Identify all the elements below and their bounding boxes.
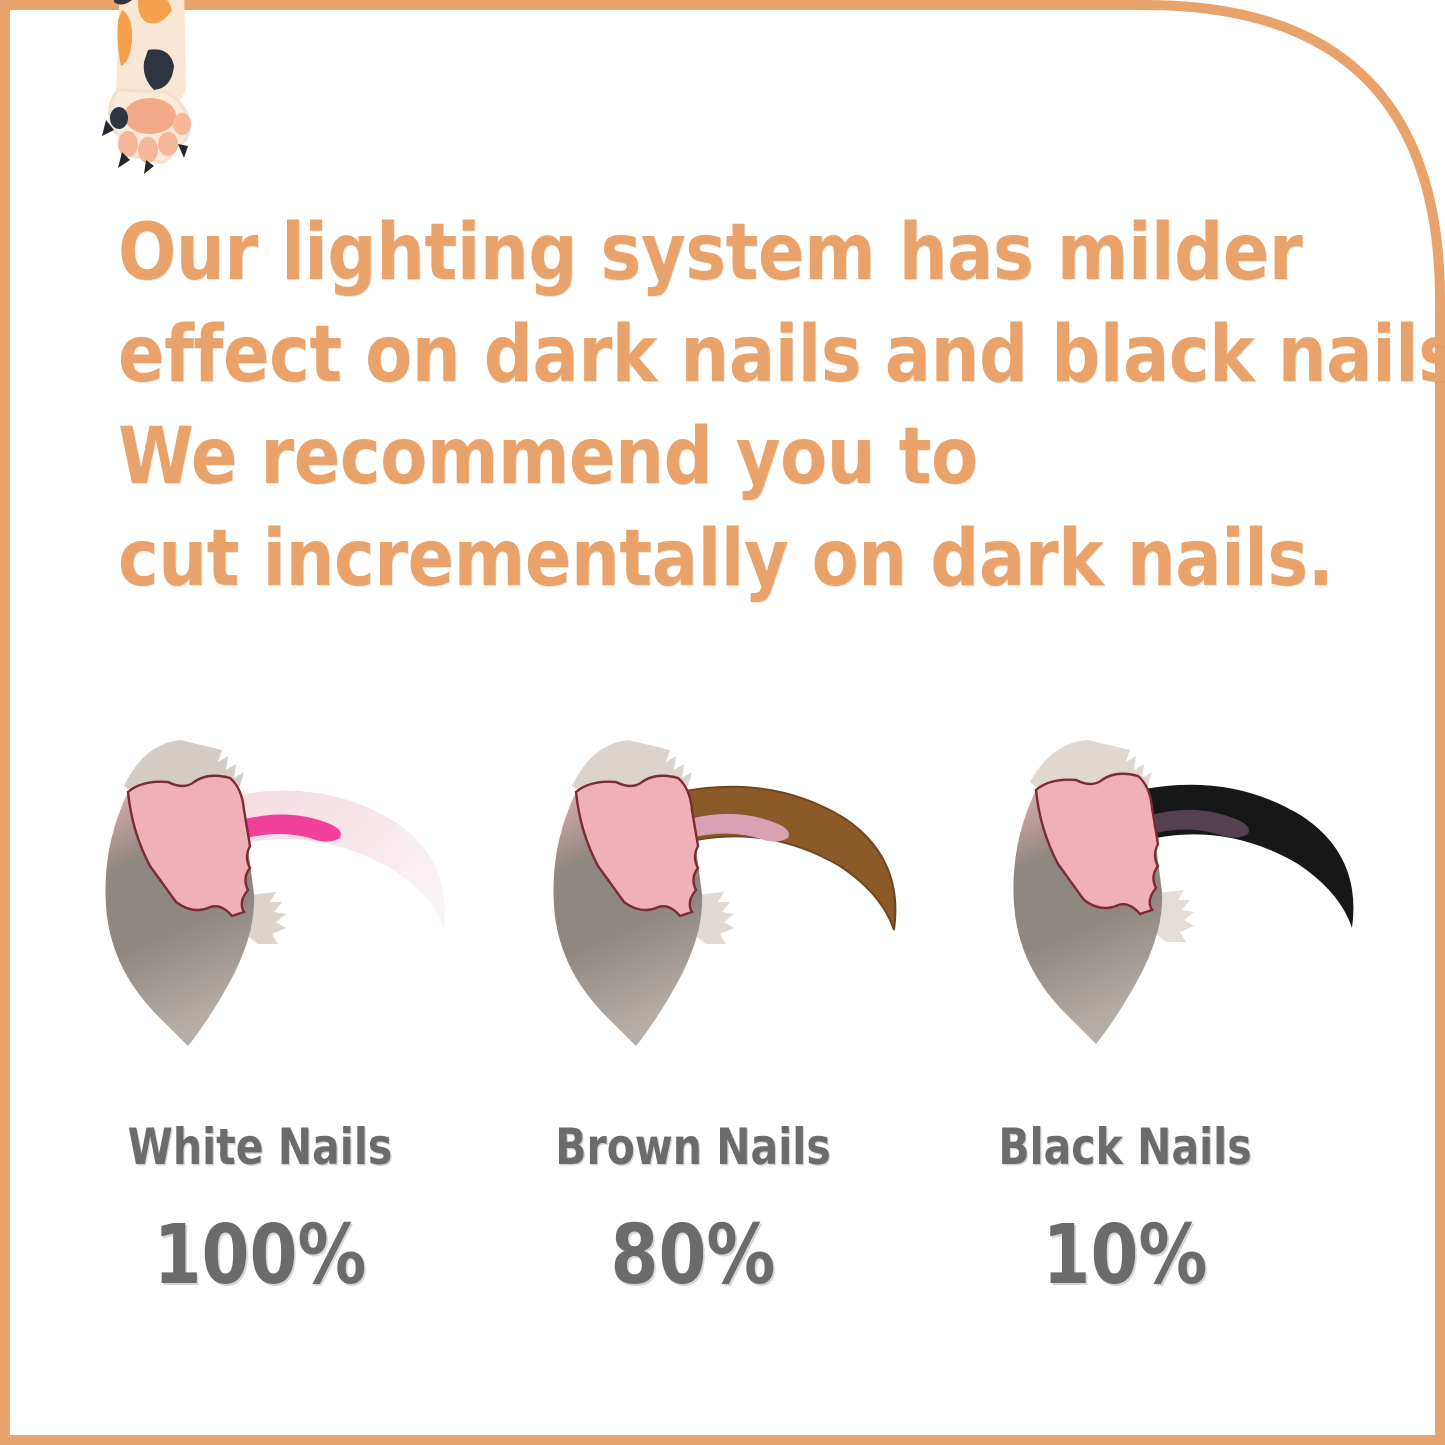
nail-percent-white: 100% <box>79 1210 440 1302</box>
nail-label-black: Black Nails <box>949 1118 1302 1176</box>
headline-line-1: Our lighting system has milder <box>118 202 1156 304</box>
caption-row: White Nails 100% Brown Nails 80% Black N… <box>0 1118 1445 1338</box>
headline-line-2: effect on dark nails and black nails. <box>118 304 1156 406</box>
nail-percent-brown: 80% <box>512 1210 873 1302</box>
headline-line-3: We recommend you to <box>118 406 1156 508</box>
paw-claw-4 <box>178 144 188 158</box>
infographic-poster: Our lighting system has milder effect on… <box>0 0 1445 1445</box>
paw-toe-bean-1 <box>118 131 138 157</box>
nail-illustration-white <box>72 716 502 1076</box>
nail-illustration-black <box>968 716 1398 1076</box>
nail-percent-black: 10% <box>944 1210 1305 1302</box>
paw-toe-bean-3 <box>158 132 178 156</box>
nail-illustration-row <box>0 716 1445 1076</box>
nail-label-brown: Brown Nails <box>517 1118 870 1176</box>
paw-toe-bean-4 <box>173 113 191 135</box>
nail-illustration-brown <box>520 716 950 1076</box>
nail-label-white: White Nails <box>84 1118 437 1176</box>
paw-toe-spot-dark <box>110 107 128 129</box>
cat-paw-icon <box>88 0 218 184</box>
paw-toe-bean-2 <box>138 137 158 163</box>
paw-main-bean <box>124 98 176 134</box>
caption-brown: Brown Nails 80% <box>478 1118 908 1302</box>
caption-black: Black Nails 10% <box>910 1118 1340 1302</box>
caption-white: White Nails 100% <box>45 1118 475 1302</box>
headline-line-4: cut incrementally on dark nails. <box>118 508 1156 610</box>
headline: Our lighting system has milder effect on… <box>118 202 1156 610</box>
